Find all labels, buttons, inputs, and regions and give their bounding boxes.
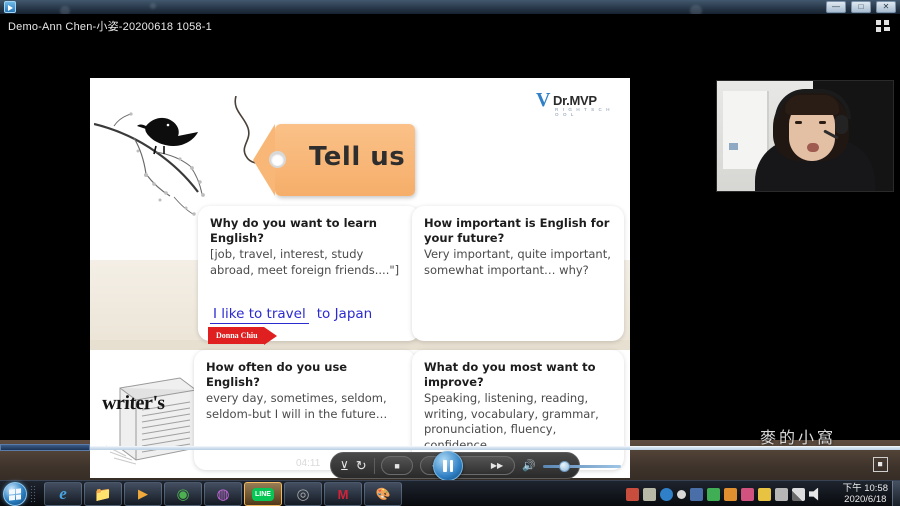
tray-app-orange-icon[interactable] (724, 488, 737, 501)
card-3-answer: every day, sometimes, seldom, seldom-but… (206, 391, 404, 422)
tag-label: Tell us (309, 142, 405, 172)
mcafee-shield-icon: M (338, 487, 349, 502)
close-button[interactable]: ✕ (876, 1, 896, 13)
question-card-1: Why do you want to learn English? [job, … (198, 206, 420, 341)
current-time: 04:11 (296, 458, 320, 469)
show-desktop-button[interactable] (892, 481, 900, 506)
tray-network-icon[interactable] (792, 488, 805, 501)
tag-eyelet (269, 151, 286, 168)
volume-slider[interactable] (543, 459, 570, 473)
player-title-bar: Demo-Ann Chen-小姿-20200618 1058-1 (0, 14, 900, 38)
internet-explorer-icon: e (59, 484, 67, 504)
card-1-student-answer: I like to travel to Japan (210, 306, 372, 324)
file-explorer-icon: 📁 (94, 486, 111, 503)
fullscreen-icon[interactable] (873, 457, 888, 472)
tray-app-blue-icon[interactable] (690, 488, 703, 501)
slide-band-accent (90, 340, 630, 350)
recording-title: Demo-Ann Chen-小姿-20200618 1058-1 (8, 18, 212, 34)
tray-app-gray-icon[interactable] (775, 488, 788, 501)
forward-button[interactable]: ▶▶ (485, 457, 509, 475)
logo-check-mark: V (536, 90, 550, 110)
taskbar-grip (30, 485, 36, 503)
taskbar-item-chromium[interactable]: ◎ (284, 482, 322, 506)
chromium-icon: ◎ (296, 485, 309, 503)
person-mouth (807, 143, 819, 152)
paint-icon: 🎨 (376, 487, 391, 501)
card-2-question: How important is English for your future… (424, 216, 612, 246)
maximize-button[interactable]: □ (851, 1, 871, 13)
volume-icon[interactable]: 🔊 (522, 457, 536, 475)
start-button[interactable] (3, 482, 27, 506)
tray-volume-icon[interactable] (809, 488, 822, 501)
stop-button[interactable]: ■ (387, 457, 407, 475)
window-chrome-bar: — □ ✕ (0, 0, 900, 14)
card-1-question: Why do you want to learn English? (210, 216, 408, 246)
card-2-answer: Very important, quite important, somewha… (424, 247, 612, 278)
windows-logo-icon (9, 488, 21, 500)
tray-sync-icon[interactable] (677, 490, 686, 499)
windows-taskbar: e 📁 ▶ ◉ ◍ LINE ◎ M 🎨 (0, 480, 900, 506)
app-icon (4, 1, 16, 13)
seek-progress (0, 444, 90, 451)
tell-us-tag: Tell us (275, 124, 415, 196)
person-eye-left (795, 121, 802, 124)
volume-knob[interactable] (559, 461, 570, 472)
drmvp-logo: V Dr.MVP R I G H T S C H O O L (536, 88, 614, 116)
screen: — □ ✕ Demo-Ann Chen-小姿-20200618 1058-1 V… (0, 0, 900, 506)
student-name-arrow: Donna Chiu (208, 327, 277, 344)
writers-label: writer's (101, 392, 165, 415)
seek-bar[interactable] (0, 444, 900, 451)
tray-app-green-icon[interactable] (707, 488, 720, 501)
taskbar-item-mcafee[interactable]: M (324, 482, 362, 506)
replay-loop-icon[interactable]: ↻ (356, 457, 367, 475)
webcam-video[interactable] (716, 80, 894, 192)
headset-earcup (835, 115, 848, 134)
seek-track[interactable] (0, 446, 900, 450)
google-chrome-icon: ◉ (176, 485, 189, 503)
tray-help-icon[interactable] (660, 488, 673, 501)
taskbar-items: e 📁 ▶ ◉ ◍ LINE ◎ M 🎨 (44, 482, 402, 506)
photo-viewer-icon: ◍ (216, 485, 229, 503)
presentation-slide: V Dr.MVP R I G H T S C H O O L (90, 78, 630, 478)
taskbar-item-photo-viewer[interactable]: ◍ (204, 482, 242, 506)
mute-mic-icon[interactable]: ⊻ (340, 457, 349, 475)
card-3-question: How often do you use English? (206, 360, 404, 390)
student-answer-tail: to Japan (317, 306, 373, 322)
tray-app-pink-icon[interactable] (741, 488, 754, 501)
taskbar-item-file-explorer[interactable]: 📁 (84, 482, 122, 506)
tray-app-yellow-icon[interactable] (758, 488, 771, 501)
student-name-label: Donna Chiu (208, 327, 264, 344)
taskbar-item-internet-explorer[interactable]: e (44, 482, 82, 506)
player-controls: 04:11 ⊻ ↻ ■ ◀◀ ▶▶ 🔊 (0, 452, 900, 480)
arrow-head-icon (264, 327, 277, 345)
question-card-2: How important is English for your future… (412, 206, 624, 341)
media-player-icon: ▶ (138, 486, 148, 502)
student-answer-blank: I like to travel (210, 306, 309, 324)
tray-action-center-icon[interactable] (626, 488, 639, 501)
window-controls: — □ ✕ (826, 1, 896, 13)
card-4-question: What do you most want to improve? (424, 360, 612, 390)
player-canvas: V Dr.MVP R I G H T S C H O O L (0, 38, 900, 440)
line-app-icon: LINE (252, 488, 274, 501)
card-1-answer: [job, travel, interest, study abroad, me… (210, 247, 408, 278)
person-eye-right (819, 121, 826, 124)
stop-group: ■ (381, 456, 413, 475)
taskbar-item-chrome[interactable]: ◉ (164, 482, 202, 506)
taskbar-item-paint[interactable]: 🎨 (364, 482, 402, 506)
taskbar-item-line[interactable]: LINE (244, 482, 282, 506)
taskbar-clock[interactable]: 下午 10:58 2020/6/18 (843, 483, 888, 505)
logo-name: Dr.MVP (553, 93, 597, 108)
clock-time: 下午 10:58 (843, 483, 888, 494)
minimize-button[interactable]: — (826, 1, 846, 13)
tray-removable-media-icon[interactable] (643, 488, 656, 501)
clock-date: 2020/6/18 (843, 494, 888, 505)
taskbar-item-media-player[interactable]: ▶ (124, 482, 162, 506)
volume-track (543, 465, 621, 468)
logo-tagline: R I G H T S C H O O L (555, 107, 614, 117)
system-tray (626, 481, 822, 506)
pause-button[interactable] (433, 451, 463, 481)
grid-layout-icon[interactable] (876, 20, 890, 33)
